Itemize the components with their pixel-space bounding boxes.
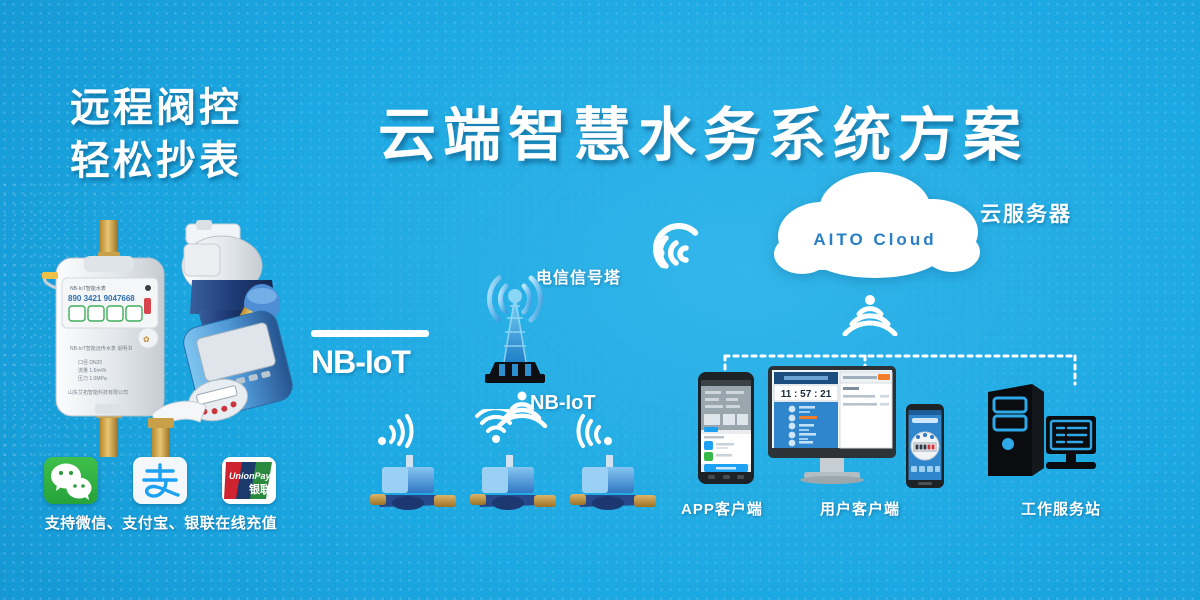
field-meter-2 [470,455,558,517]
product-smart-meter-blue [148,307,296,458]
svg-text:890 3421 9047668: 890 3421 9047668 [68,294,135,303]
left-headline-line2: 轻松抄表 [70,135,310,188]
product-meter-white: NB-IoT智能水表 890 3421 9047668 ✿ NB-IoT智能远传… [42,220,164,457]
svg-text:NB-IoT智能水表: NB-IoT智能水表 [70,285,106,292]
cloud-server-label: 云服务器 [980,198,1072,228]
wifi-signal-tower-to-cloud [648,218,710,280]
svg-text:流量 1.6m³/h: 流量 1.6m³/h [78,367,107,374]
handheld-meter-reader-icon [906,404,944,488]
banner-canvas: 远程阀控 轻松抄表 云端智慧水务系统方案 AITO Cloud 云服务器 [0,0,1200,600]
svg-text:UnionPay: UnionPay [229,471,272,481]
unionpay-icon[interactable]: UnionPay 银联 [222,457,276,504]
nbiot-primary-label: NB-IoT [311,330,429,381]
wifi-signal-meter-2 [474,409,518,445]
wifi-signal-meter-1 [372,413,418,449]
product-photo-group: NB-IoT智能水表 890 3421 9047668 ✿ NB-IoT智能远传… [40,218,310,463]
svg-text:压力 1.0MPa: 压力 1.0MPa [78,375,107,382]
tower-label: 电信信号塔 [536,264,621,288]
page-title: 云端智慧水务系统方案 [378,88,1028,172]
monitor-clock: 11 : 57 : 21 [781,389,832,400]
payment-caption: 支持微信、支付宝、银联在线充值 [22,512,300,533]
workstation-label: 工作服务站 [1021,498,1101,519]
wechat-icon[interactable] [44,457,98,504]
wifi-signal-meter-3 [572,413,618,449]
field-meter-3 [570,455,658,517]
app-client-device[interactable] [698,372,754,484]
handheld-reader-device[interactable] [906,404,944,488]
left-headline-line1: 远程阀控 [70,82,310,135]
alipay-icon[interactable] [133,457,187,504]
app-client-label: APP客户端 [681,498,763,519]
left-headline: 远程阀控 轻松抄表 [70,82,310,188]
nbiot-secondary-label: NB-IoT [530,392,596,415]
workstation-device[interactable] [982,382,1100,486]
svg-text:银联: 银联 [249,482,271,496]
cloud-server-graphic: AITO Cloud [760,168,990,288]
field-meter-1 [370,455,458,517]
svg-text:山东艾拓智能科技有限公司: 山东艾拓智能科技有限公司 [68,389,128,396]
wifi-signal-cloud-downlink [840,290,900,336]
cloud-icon [760,168,990,288]
svg-text:NB-IoT智能远传水表 说明书: NB-IoT智能远传水表 说明书 [70,345,132,352]
svg-text:口径 DN20: 口径 DN20 [78,359,102,366]
workstation-icon [982,382,1100,486]
desktop-monitor-icon: 11 : 57 : 21 [768,366,896,488]
payment-logo-row: UnionPay 银联 [44,455,276,505]
user-client-device[interactable]: 11 : 57 : 21 [768,366,896,488]
field-meter-row [370,455,660,525]
smartphone-icon [698,372,754,484]
nbiot-underline-bar [311,330,429,337]
user-client-label: 用户客户端 [820,498,900,519]
svg-text:✿: ✿ [143,335,150,344]
cloud-brand-text: AITO Cloud [760,230,990,250]
